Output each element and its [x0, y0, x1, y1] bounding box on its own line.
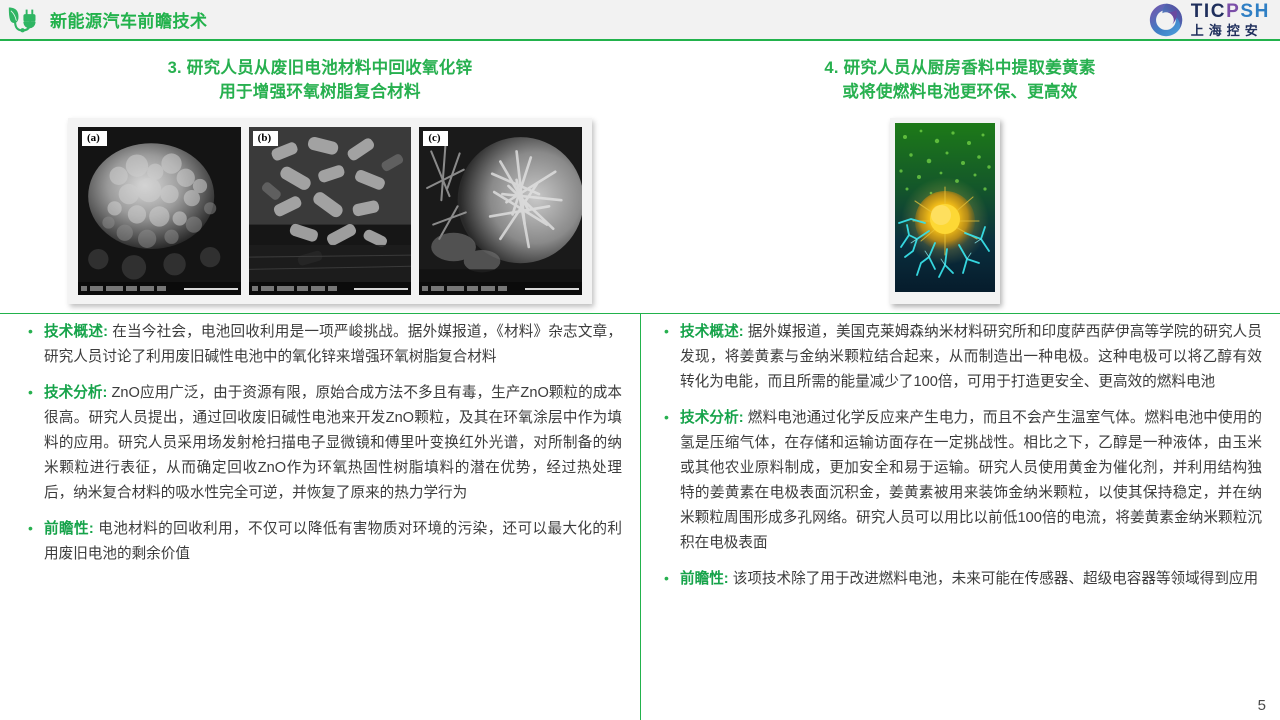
bullet-label: 技术分析:	[44, 385, 107, 401]
bullet-text: 电池材料的回收利用，不仅可以降低有害物质对环境的污染，还可以最大化的利用废旧电池…	[44, 521, 622, 562]
sem-texture-b	[249, 127, 412, 295]
brand-en-part1: TIC	[1191, 1, 1226, 22]
bullet-label: 技术概述:	[680, 324, 744, 340]
bullet-text: 该项技术除了用于改进燃料电池，未来可能在传感器、超级电容器等领域得到应用	[733, 571, 1258, 587]
list-item: 技术概述: 在当今社会，电池回收利用是一项严峻挑战。据外媒报道，《材料》杂志文章…	[26, 320, 622, 370]
sem-texture-c	[419, 127, 582, 295]
bullet-text: 在当今社会，电池回收利用是一项严峻挑战。据外媒报道，《材料》杂志文章，研究人员讨…	[44, 324, 622, 365]
sem-panel-c-tag: (c)	[423, 131, 447, 146]
header-title: 新能源汽车前瞻技术	[50, 7, 208, 32]
leaf-plug-icon	[6, 5, 40, 35]
bullet-label: 前瞻性:	[680, 571, 729, 587]
sem-panel-b-infobar	[249, 282, 412, 295]
sem-panel-c: (c)	[419, 127, 582, 295]
bullet-text: 燃料电池通过化学反应来产生电力，而且不会产生温室气体。燃料电池中使用的氢是压缩气…	[680, 410, 1262, 551]
swirl-circle-logo	[1148, 2, 1184, 38]
left-title-line-2: 用于增强环氧树脂复合材料	[0, 80, 640, 104]
slide: 新能源汽车前瞻技术	[0, 0, 1280, 720]
right-section-title: 4. 研究人员从厨房香料中提取姜黄素 或将使燃料电池更环保、更高效	[640, 56, 1280, 104]
page-number: 5	[1258, 697, 1266, 714]
sem-panel-a: (a)	[78, 127, 241, 295]
list-item: 技术分析: 燃料电池通过化学反应来产生电力，而且不会产生温室气体。燃料电池中使用…	[662, 406, 1262, 556]
list-item: 技术概述: 据外媒报道，美国克莱姆森纳米材料研究所和印度萨西萨伊高等学院的研究人…	[662, 320, 1262, 395]
list-item: 前瞻性: 电池材料的回收利用，不仅可以降低有害物质对环境的污染，还可以最大化的利…	[26, 517, 622, 567]
sem-texture-a	[78, 127, 241, 295]
brand-cn-text: 上海控安	[1191, 24, 1270, 37]
slide-header: 新能源汽车前瞻技术	[0, 0, 1280, 41]
right-title-line-2: 或将使燃料电池更环保、更高效	[640, 80, 1280, 104]
sem-panel-c-infobar	[419, 282, 582, 295]
right-title-line-1: 4. 研究人员从厨房香料中提取姜黄素	[640, 56, 1280, 80]
brand-en-part2: P	[1226, 1, 1240, 22]
brand-en-text: TICPSH	[1191, 2, 1270, 21]
brand-en-part3: SH	[1240, 1, 1270, 22]
bullet-text: 据外媒报道，美国克莱姆森纳米材料研究所和印度萨西萨伊高等学院的研究人员发现，将姜…	[680, 324, 1262, 390]
nanoparticle-figure-card	[890, 118, 1000, 304]
bullet-text: ZnO应用广泛，由于资源有限，原始合成方法不多且有毒，生产ZnO颗粒的成本很高。…	[44, 385, 622, 501]
section-titles: 3. 研究人员从废旧电池材料中回收氧化锌 用于增强环氧树脂复合材料 4. 研究人…	[0, 56, 1280, 104]
figure-zone: (a)	[0, 118, 1280, 310]
right-body-column: 技术概述: 据外媒报道，美国克莱姆森纳米材料研究所和印度萨西萨伊高等学院的研究人…	[640, 320, 1280, 603]
brand-logo: TICPSH 上海控安	[1148, 2, 1270, 38]
left-title-line-1: 3. 研究人员从废旧电池材料中回收氧化锌	[0, 56, 640, 80]
sem-figure-card: (a)	[68, 118, 592, 304]
nanoparticle-artwork	[895, 123, 995, 292]
bullet-label: 技术分析:	[680, 410, 744, 426]
sem-panel-b-tag: (b)	[253, 131, 278, 146]
list-item: 前瞻性: 该项技术除了用于改进燃料电池，未来可能在传感器、超级电容器等领域得到应…	[662, 567, 1262, 592]
body-content: 技术概述: 在当今社会，电池回收利用是一项严峻挑战。据外媒报道，《材料》杂志文章…	[0, 320, 1280, 603]
sem-panel-a-infobar	[78, 282, 241, 295]
bullet-label: 技术概述:	[44, 324, 108, 340]
left-section-title: 3. 研究人员从废旧电池材料中回收氧化锌 用于增强环氧树脂复合材料	[0, 56, 640, 104]
sem-panel-a-tag: (a)	[82, 131, 107, 146]
sem-panel-b: (b)	[249, 127, 412, 295]
bullet-label: 前瞻性:	[44, 521, 94, 537]
nanoparticle-illustration	[895, 123, 995, 292]
list-item: 技术分析: ZnO应用广泛，由于资源有限，原始合成方法不多且有毒，生产ZnO颗粒…	[26, 381, 622, 506]
left-body-column: 技术概述: 在当今社会，电池回收利用是一项严峻挑战。据外媒报道，《材料》杂志文章…	[0, 320, 640, 603]
